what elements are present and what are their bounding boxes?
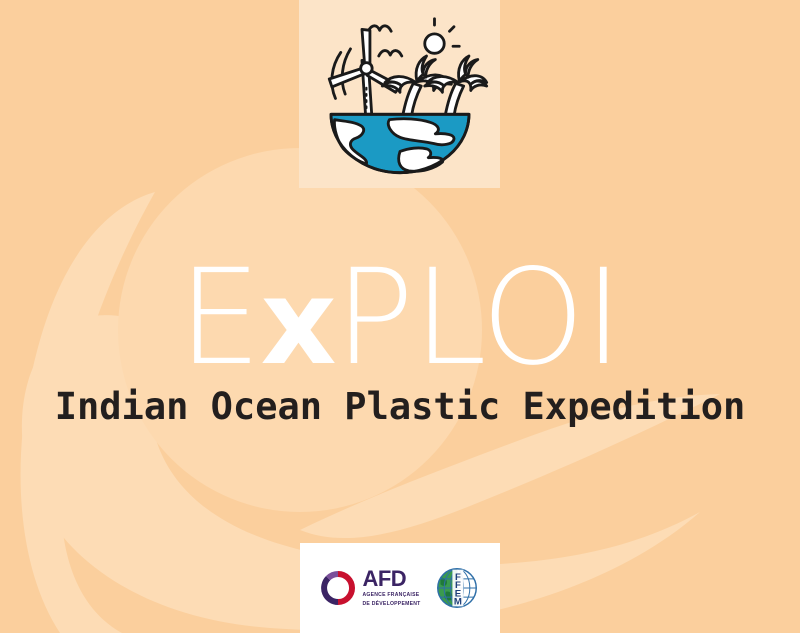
sustainable-island-globe-icon xyxy=(311,10,489,178)
afd-ring-icon xyxy=(321,571,355,605)
page-subtitle: Indian Ocean Plastic Expedition xyxy=(0,385,800,428)
afd-tagline-line2: DE DÉVELOPPEMENT xyxy=(362,601,420,608)
title-part-after: PLOI xyxy=(335,241,622,395)
page-title: ExPLOI xyxy=(0,252,800,384)
title-x-accent: x xyxy=(261,253,335,391)
afd-word: AFD xyxy=(362,568,420,590)
afd-logo: AFD AGENCE FRANÇAISE DE DÉVELOPPEMENT xyxy=(321,568,420,608)
afd-wordmark: AFD AGENCE FRANÇAISE DE DÉVELOPPEMENT xyxy=(362,568,420,608)
title-part-before: E xyxy=(178,241,260,395)
ffem-globe-icon: F F E M xyxy=(435,566,479,610)
exploi-poster: ExPLOI Indian Ocean Plastic Expedition A… xyxy=(0,0,800,633)
hero-icon-panel xyxy=(299,0,500,188)
afd-tagline-line1: AGENCE FRANÇAISE xyxy=(362,592,420,599)
ffem-letter-4: M xyxy=(453,597,461,608)
subtitle-text: Indian Ocean Plastic Expedition xyxy=(55,385,746,428)
sponsor-logo-box: AFD AGENCE FRANÇAISE DE DÉVELOPPEMENT xyxy=(300,543,500,633)
